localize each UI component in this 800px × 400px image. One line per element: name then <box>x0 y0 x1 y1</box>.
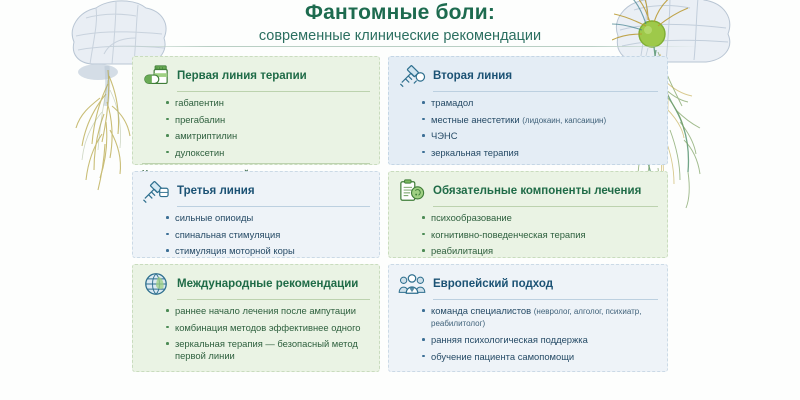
card-title: Первая линия терапии <box>177 70 307 83</box>
card-header: Вторая линия <box>398 63 658 89</box>
item-note: (лидокаин, капсаицин) <box>522 116 606 125</box>
page-subtitle: современные клинические рекомендации <box>0 29 800 45</box>
card-title: Международные рекомендации <box>177 278 358 291</box>
list-item: когнитивно-поведенческая терапия <box>422 229 658 241</box>
card-title: Вторая линия <box>433 70 512 83</box>
item-text: ранняя психологическая поддержка <box>431 334 588 345</box>
clipboard-head-icon <box>398 178 426 204</box>
card-header: Европейский подход <box>398 271 658 297</box>
list-item: зеркальная терапия — безопасный метод пе… <box>166 338 370 362</box>
footer-divider <box>142 163 370 164</box>
card-third-line[interactable]: Третья линия сильные опиоиды спинальная … <box>132 171 380 258</box>
card-header: Международные рекомендации <box>142 271 370 297</box>
list-item: обучение пациента самопомощи <box>422 351 658 363</box>
card-item-list: сильные опиоиды спинальная стимуляция ст… <box>142 212 370 257</box>
title-divider <box>177 91 370 92</box>
list-item: команда специалистов (невролог, алголог,… <box>422 305 658 329</box>
medical-team-icon <box>398 271 426 297</box>
pill-bottle-icon <box>142 63 170 89</box>
list-item: дулоксетин <box>166 147 370 159</box>
list-item: зеркальная терапия <box>422 147 658 159</box>
item-text: зеркальная терапия <box>431 147 519 158</box>
list-item: ЧЭНС <box>422 130 658 142</box>
syringe-icon <box>142 178 170 204</box>
card-header: Обязательные компоненты лечения <box>398 178 658 204</box>
syringe-icon <box>398 63 426 89</box>
card-item-list: габапентин прегабалин амитриптилин дулок… <box>142 97 370 159</box>
item-text: обучение пациента самопомощи <box>431 351 574 362</box>
item-text: местные анестетики <box>431 114 522 125</box>
card-header: Третья линия <box>142 178 370 204</box>
list-item: габапентин <box>166 97 370 109</box>
list-item: прегабалин <box>166 114 370 126</box>
item-text: команда специалистов <box>431 305 534 316</box>
list-item: раннее начало лечения после ампутации <box>166 305 370 317</box>
list-item: стимуляция моторной коры <box>166 245 370 257</box>
card-header: Первая линия терапии <box>142 63 370 89</box>
page-title: Фантомные боли: <box>0 2 800 24</box>
list-item: реабилитация <box>422 245 658 257</box>
list-item: ранняя психологическая поддержка <box>422 334 658 346</box>
card-first-line-therapy[interactable]: Первая линия терапии габапентин прегабал… <box>132 56 380 165</box>
title-divider <box>433 206 658 207</box>
card-mandatory-components[interactable]: Обязательные компоненты лечения психообр… <box>388 171 668 258</box>
list-item: амитриптилин <box>166 130 370 142</box>
item-text: ЧЭНС <box>431 130 458 141</box>
card-title: Третья линия <box>177 185 255 198</box>
list-item: трамадол <box>422 97 658 109</box>
list-item: местные анестетики (лидокаин, капсаицин) <box>422 114 658 126</box>
list-item: комбинация методов эффективнее одного <box>166 322 370 334</box>
card-item-list: раннее начало лечения после ампутации ко… <box>142 305 370 362</box>
header: Фантомные боли: современные клинические … <box>0 2 800 45</box>
card-title: Обязательные компоненты лечения <box>433 185 641 198</box>
header-divider <box>100 46 700 47</box>
card-item-list: трамадол местные анестетики (лидокаин, к… <box>398 97 658 159</box>
list-item: сильные опиоиды <box>166 212 370 224</box>
card-european-approach[interactable]: Европейский подход команда специалистов … <box>388 264 668 372</box>
card-title: Европейский подход <box>433 278 553 291</box>
infographic-canvas: Фантомные боли: современные клинические … <box>0 0 800 400</box>
card-second-line[interactable]: Вторая линия трамадол местные анестетики… <box>388 56 668 165</box>
title-divider <box>177 299 370 300</box>
item-text: трамадол <box>431 97 473 108</box>
card-item-list: команда специалистов (невролог, алголог,… <box>398 305 658 363</box>
list-item: спинальная стимуляция <box>166 229 370 241</box>
globe-icon <box>142 271 170 297</box>
list-item: психообразование <box>422 212 658 224</box>
title-divider <box>177 206 370 207</box>
title-divider <box>433 91 658 92</box>
card-international-recommendations[interactable]: Международные рекомендации раннее начало… <box>132 264 380 372</box>
title-divider <box>433 299 658 300</box>
